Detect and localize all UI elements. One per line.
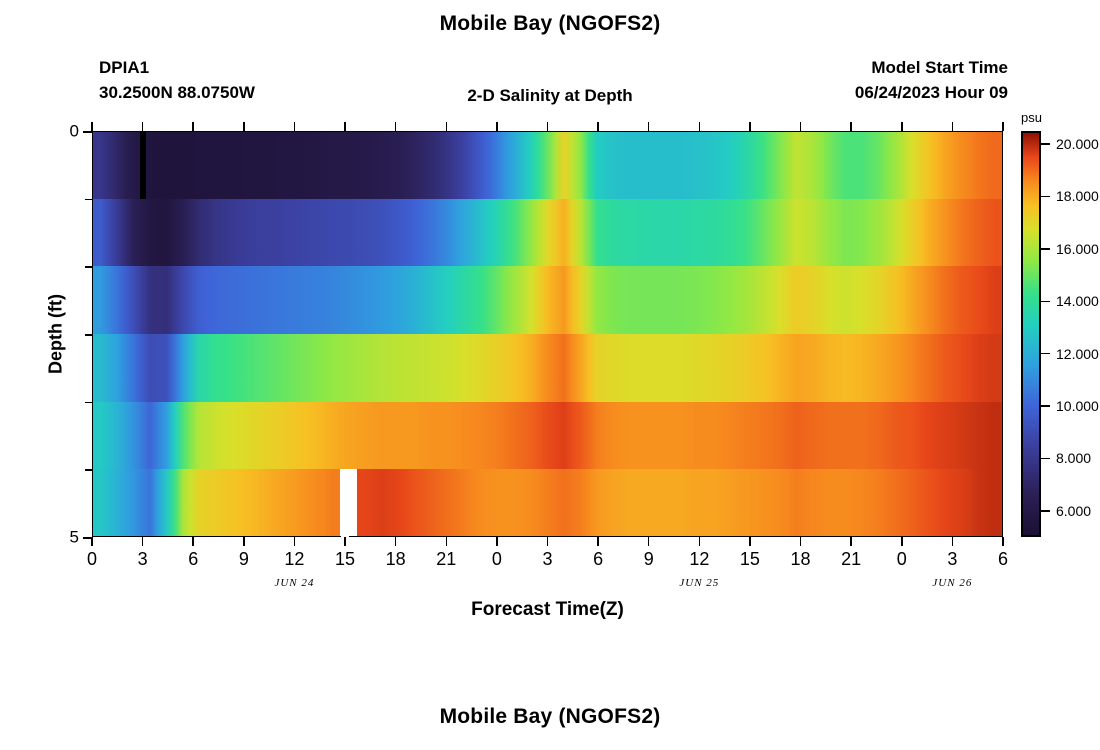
x-axis-tick-label: 21 [841, 550, 861, 568]
x-axis-tick-label: 18 [386, 550, 406, 568]
colorbar-tick [1041, 405, 1050, 407]
x-axis-tick [294, 537, 296, 546]
x-axis-tick [850, 537, 852, 546]
x-axis-tick [597, 537, 599, 546]
x-axis-tick-top [395, 122, 397, 131]
x-axis-tick-top [192, 122, 194, 131]
x-axis-tick-top [749, 122, 751, 131]
plot-area: 05 036912151821036912151821036JUN 24JUN … [92, 131, 1003, 537]
x-axis-tick [142, 537, 144, 546]
missing-data-gap [341, 469, 349, 537]
y-axis-tick-label: 0 [70, 123, 79, 140]
x-axis-tick-label: 6 [998, 550, 1008, 568]
colorbar-tick-label: 8.000 [1056, 451, 1091, 465]
x-axis-tick-top [1002, 122, 1004, 131]
x-axis-tick-top [952, 122, 954, 131]
x-axis-tick-label: 18 [791, 550, 811, 568]
x-axis-tick-label: 3 [138, 550, 148, 568]
x-axis-tick-label: 3 [947, 550, 957, 568]
colorbar-tick [1041, 301, 1050, 303]
colorbar-tick [1041, 458, 1050, 460]
y-axis-minor-tick [85, 266, 92, 268]
y-axis-tick-label: 5 [70, 529, 79, 546]
x-axis-tick-top [496, 122, 498, 131]
y-axis-minor-tick [85, 402, 92, 404]
x-axis-tick [192, 537, 194, 546]
x-axis-tick [446, 537, 448, 546]
station-id: DPIA1 [99, 56, 255, 81]
x-axis-tick-label: 15 [335, 550, 355, 568]
x-axis-tick [547, 537, 549, 546]
y-axis-minor-tick [85, 469, 92, 471]
colorbar-tick-label: 14.000 [1056, 294, 1099, 308]
x-axis-tick-label: 0 [87, 550, 97, 568]
x-axis-day-label: JUN 26 [932, 577, 972, 589]
x-axis-tick-top [850, 122, 852, 131]
colorbar-tick-label: 6.000 [1056, 504, 1091, 518]
observation-marker [140, 131, 146, 199]
x-axis-tick-top [142, 122, 144, 131]
plot-frame [92, 131, 1003, 537]
x-axis-tick-top [344, 122, 346, 131]
colorbar-tick-label: 12.000 [1056, 347, 1099, 361]
x-axis-tick [901, 537, 903, 546]
x-axis-tick-label: 9 [644, 550, 654, 568]
x-axis-tick [243, 537, 245, 546]
colorbar-tick [1041, 143, 1050, 145]
x-axis-tick-label: 21 [436, 550, 456, 568]
x-axis-tick-top [648, 122, 650, 131]
x-axis-tick-label: 6 [188, 550, 198, 568]
x-axis-tick-top [699, 122, 701, 131]
x-axis-tick [699, 537, 701, 546]
x-axis-tick-label: 0 [492, 550, 502, 568]
x-axis-tick-top [294, 122, 296, 131]
x-axis-tick-label: 6 [593, 550, 603, 568]
x-axis-tick-label: 12 [284, 550, 304, 568]
x-axis-tick [1002, 537, 1004, 546]
colorbar-tick [1041, 353, 1050, 355]
x-axis-tick [91, 537, 93, 546]
x-axis-tick-top [547, 122, 549, 131]
colorbar-unit-label: psu [1021, 110, 1042, 125]
x-axis-tick-label: 15 [740, 550, 760, 568]
colorbar-tick [1041, 248, 1050, 250]
model-start-value: 06/24/2023 Hour 09 [855, 81, 1008, 106]
x-axis-tick-label: 0 [897, 550, 907, 568]
colorbar-tick-label: 16.000 [1056, 242, 1099, 256]
x-axis-tick [800, 537, 802, 546]
x-axis-day-label: JUN 24 [274, 577, 314, 589]
x-axis-tick-label: 9 [239, 550, 249, 568]
x-axis-tick-top [446, 122, 448, 131]
x-axis-tick-top [597, 122, 599, 131]
x-axis-tick [344, 537, 346, 546]
salinity-chart-page: Mobile Bay (NGOFS2) DPIA1 30.2500N 88.07… [0, 0, 1100, 750]
y-axis-minor-tick [85, 334, 92, 336]
colorbar-tick-label: 10.000 [1056, 399, 1099, 413]
x-axis-tick [952, 537, 954, 546]
colorbar-tick-label: 18.000 [1056, 189, 1099, 203]
y-axis-tick [83, 131, 92, 133]
x-axis-tick-top [91, 122, 93, 131]
x-axis-title: Forecast Time(Z) [92, 599, 1003, 621]
colorbar: 6.0008.00010.00012.00014.00016.00018.000… [1021, 131, 1041, 537]
x-axis-tick [749, 537, 751, 546]
y-axis-minor-tick [85, 199, 92, 201]
x-axis-tick-label: 12 [689, 550, 709, 568]
x-axis-tick-label: 3 [542, 550, 552, 568]
x-axis-tick-top [800, 122, 802, 131]
x-axis-day-label: JUN 25 [679, 577, 719, 589]
model-start-header: Model Start Time 06/24/2023 Hour 09 [855, 56, 1008, 105]
colorbar-tick-label: 20.000 [1056, 137, 1099, 151]
page-title-top: Mobile Bay (NGOFS2) [0, 12, 1100, 36]
x-axis-tick [496, 537, 498, 546]
colorbar-gradient [1021, 131, 1041, 537]
model-start-label: Model Start Time [855, 56, 1008, 81]
x-axis-tick [648, 537, 650, 546]
x-axis-tick-top [901, 122, 903, 131]
colorbar-tick [1041, 510, 1050, 512]
y-axis-title: Depth (ft) [45, 294, 66, 374]
x-axis-tick [395, 537, 397, 546]
x-axis-tick-top [243, 122, 245, 131]
page-title-bottom: Mobile Bay (NGOFS2) [0, 705, 1100, 729]
colorbar-tick [1041, 196, 1050, 198]
